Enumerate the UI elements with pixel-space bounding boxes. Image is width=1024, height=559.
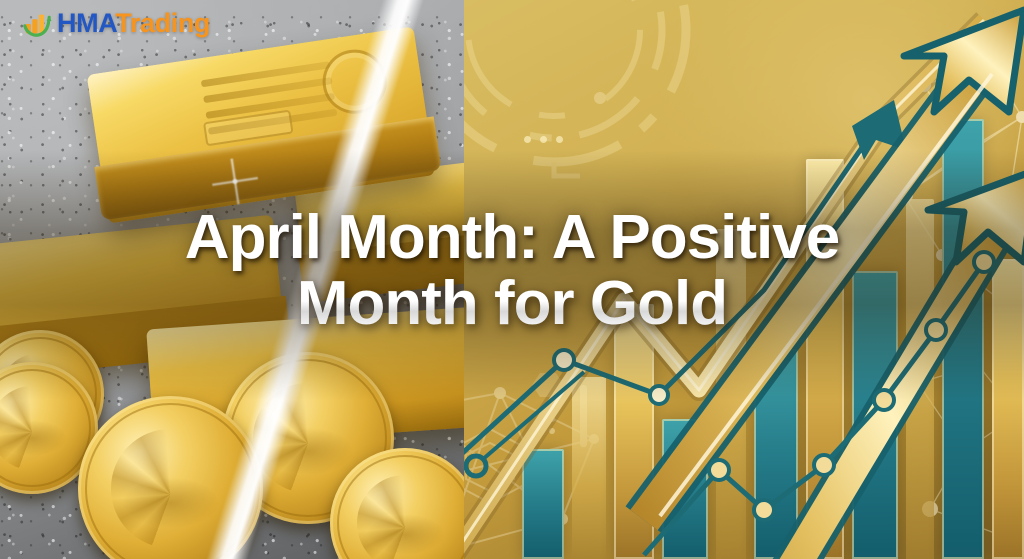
bar-chart-swoosh-icon [22, 8, 52, 38]
brand-name-secondary: Trading [115, 8, 210, 38]
sparkle-icon [209, 155, 261, 207]
article-hero-banner: HMATrading April Month: A Positive Month… [0, 0, 1024, 559]
brand-wordmark: HMATrading [57, 10, 210, 37]
financial-growth-graphic [464, 0, 1024, 559]
brand-logo[interactable]: HMATrading [22, 8, 210, 38]
trend-lines-and-arrows [464, 0, 1024, 559]
brand-name-primary: HMA [57, 8, 115, 38]
